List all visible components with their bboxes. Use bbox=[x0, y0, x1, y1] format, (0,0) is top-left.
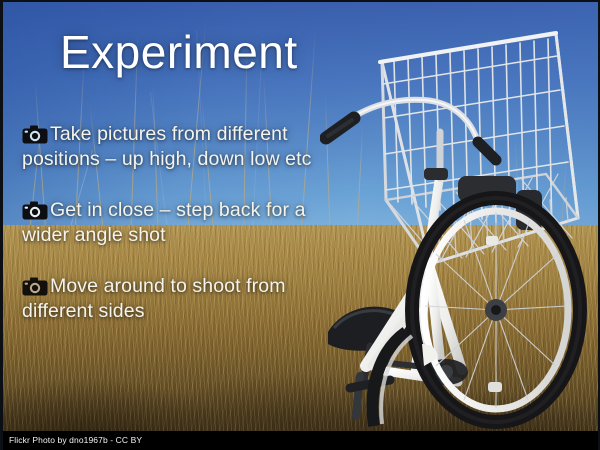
camera-icon bbox=[22, 277, 48, 296]
bicycle-photo-subject bbox=[320, 14, 600, 434]
bullet-item: Get in close – step back for a wider ang… bbox=[22, 198, 340, 248]
camera-icon bbox=[22, 125, 48, 144]
photo-credit-text: Flickr Photo by dno1967b - CC BY bbox=[9, 434, 142, 447]
bullet-text: Move around to shoot from different side… bbox=[22, 275, 286, 322]
bullet-text: Take pictures from different positions –… bbox=[22, 123, 311, 170]
bullet-item: Move around to shoot from different side… bbox=[22, 274, 340, 324]
presentation-slide: Experiment Take pictures from different … bbox=[0, 0, 600, 450]
slide-title: Experiment bbox=[60, 28, 298, 76]
bullet-item: Take pictures from different positions –… bbox=[22, 122, 340, 172]
camera-icon bbox=[22, 201, 48, 220]
bullet-list: Take pictures from different positions –… bbox=[22, 122, 340, 342]
photo-credit-bar: Flickr Photo by dno1967b - CC BY bbox=[0, 431, 600, 450]
bullet-text: Get in close – step back for a wider ang… bbox=[22, 199, 306, 246]
